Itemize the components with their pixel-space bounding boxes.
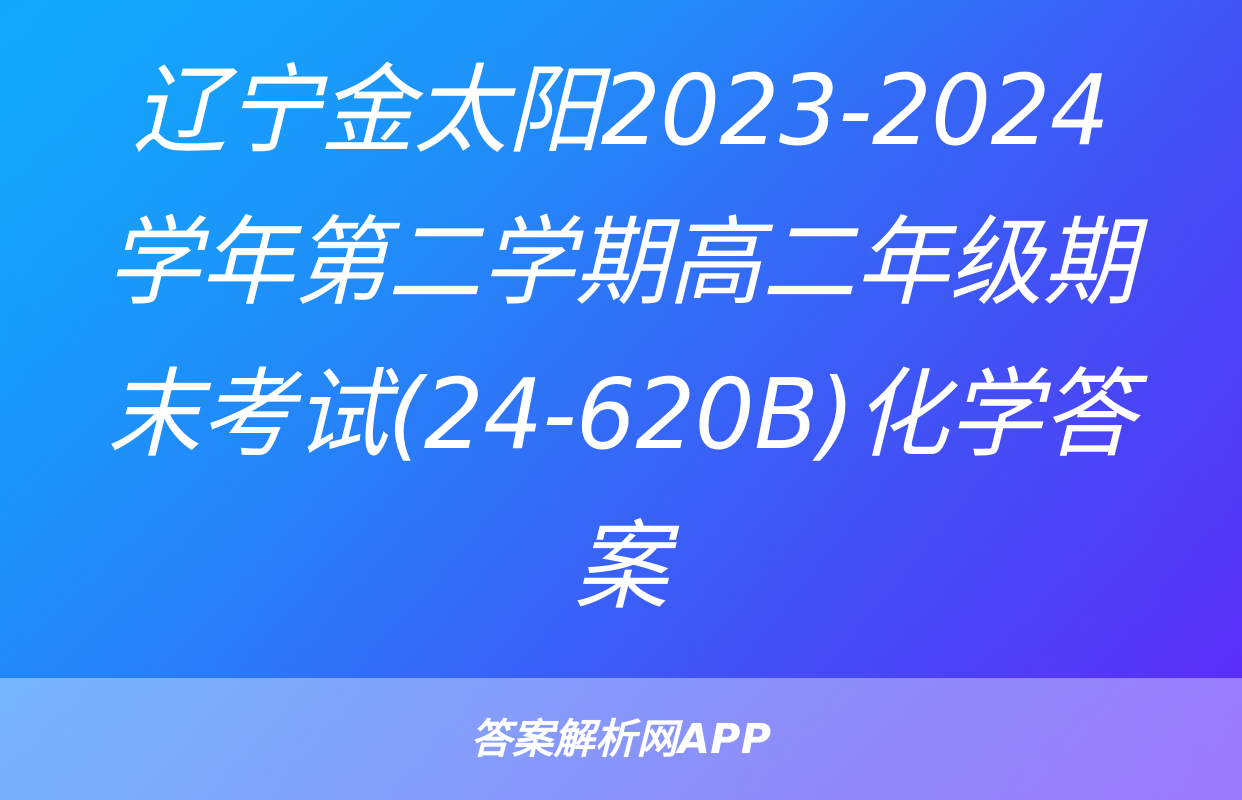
page-title: 辽宁金太阳2023-2024学年第二学期高二年级期末考试(24-620B)化学答… bbox=[94, 35, 1147, 643]
title-area: 辽宁金太阳2023-2024学年第二学期高二年级期末考试(24-620B)化学答… bbox=[0, 0, 1242, 678]
exam-answer-banner: 辽宁金太阳2023-2024学年第二学期高二年级期末考试(24-620B)化学答… bbox=[0, 0, 1242, 800]
app-watermark-label: 答案解析网APP bbox=[471, 719, 772, 760]
footer-watermark-band: 答案解析网APP bbox=[0, 678, 1242, 800]
